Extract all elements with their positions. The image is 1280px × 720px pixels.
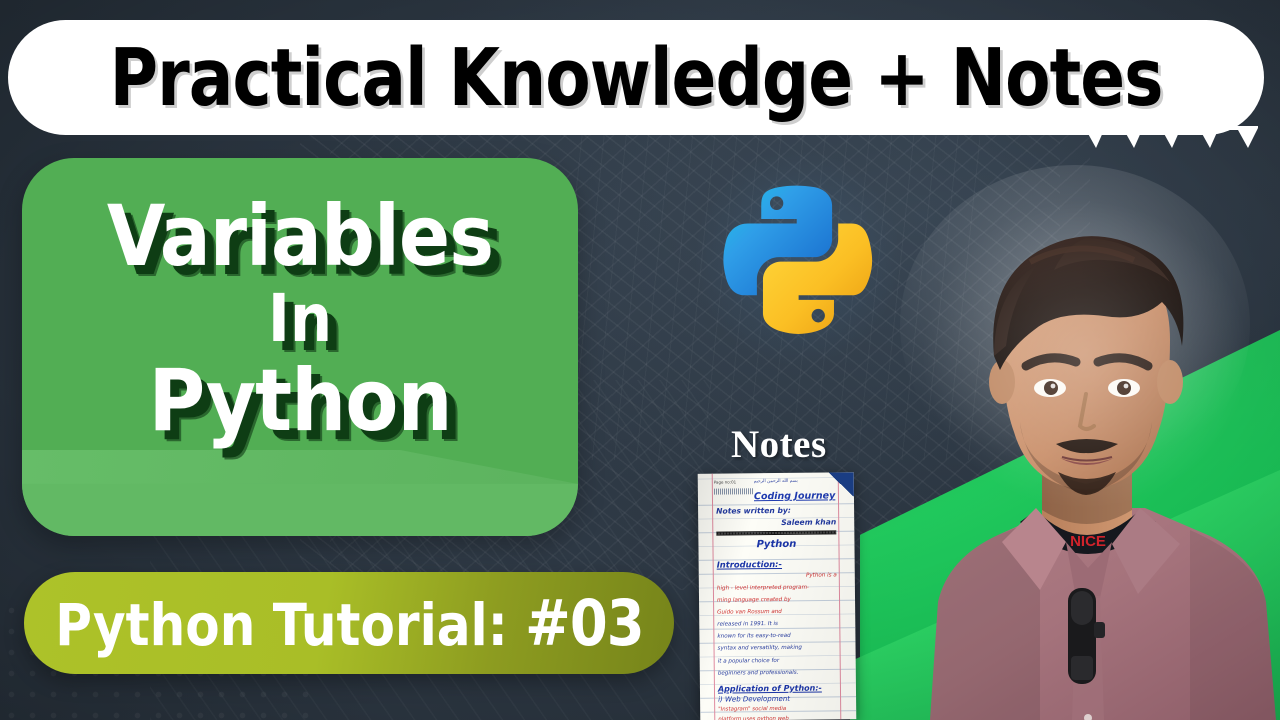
notebook-application-note-1: "Instagram" social media <box>718 704 838 714</box>
notebook-author: Saleem khan <box>716 518 836 528</box>
notebook-title: Coding Journey <box>754 490 836 502</box>
python-logo-icon <box>716 168 876 348</box>
tutorial-badge: Python Tutorial: #03 <box>24 572 674 674</box>
notebook-body-line-6: known for its easy-to-read <box>717 632 837 642</box>
notebook-stamp <box>714 488 754 494</box>
topic-card-text-group: Variables In Python <box>22 158 578 536</box>
page-title: Practical Knowledge + Notes <box>110 32 1163 124</box>
notebook-body-line-7: syntax and versatility, making <box>718 644 838 654</box>
notebook-body-line-8: it a popular choice for <box>718 656 838 666</box>
notes-label: Notes <box>731 422 827 467</box>
notebook-body-line-5: released in 1991. It is <box>717 620 837 630</box>
notebook-language-heading: Python <box>716 539 836 551</box>
youtube-thumbnail: NICE <box>0 0 1280 720</box>
notebook-body-line-1: Python is a <box>717 572 837 582</box>
notebook-written-by-label: Notes written by: <box>716 505 836 515</box>
notebook-section-heading: Introduction:- <box>717 559 837 570</box>
topic-line-2: In <box>268 286 332 352</box>
topic-line-3: Python <box>148 358 451 444</box>
notebook-application-item-1: i) Web Development <box>718 694 838 703</box>
notebook-body-line-3: ming language created by <box>717 596 837 606</box>
presenter-glow <box>910 190 1260 520</box>
notebook-page-number: Page no:01 <box>714 479 736 484</box>
notebook-body-line-9: beginners and professionals. <box>718 668 838 678</box>
notebook-application-note-2: platform uses python web <box>718 715 838 720</box>
topic-line-1: Variables <box>107 194 493 278</box>
notebook-application-heading: Application of Python:- <box>718 683 838 693</box>
topic-card: Variables In Python <box>22 158 578 536</box>
presenter-portrait: NICE <box>890 150 1280 720</box>
title-banner: Practical Knowledge + Notes <box>8 20 1264 135</box>
notebook-content: Page no:01 بسم الله الرحمن الرحیم Coding… <box>698 472 857 720</box>
notebook-body-line-2: high - level interpreted program- <box>717 584 837 594</box>
tutorial-badge-text: Python Tutorial: <box>55 591 507 659</box>
tutorial-episode-number: #03 <box>525 587 643 660</box>
svg-text:NICE: NICE <box>1070 533 1106 550</box>
notebook-divider-bar <box>716 531 836 536</box>
handwritten-notes-page: Page no:01 بسم الله الرحمن الرحیم Coding… <box>698 472 857 720</box>
tutorial-badge-label: Python Tutorial: #03 <box>55 587 643 660</box>
notebook-body-line-4: Guido van Rossum and <box>717 608 837 618</box>
